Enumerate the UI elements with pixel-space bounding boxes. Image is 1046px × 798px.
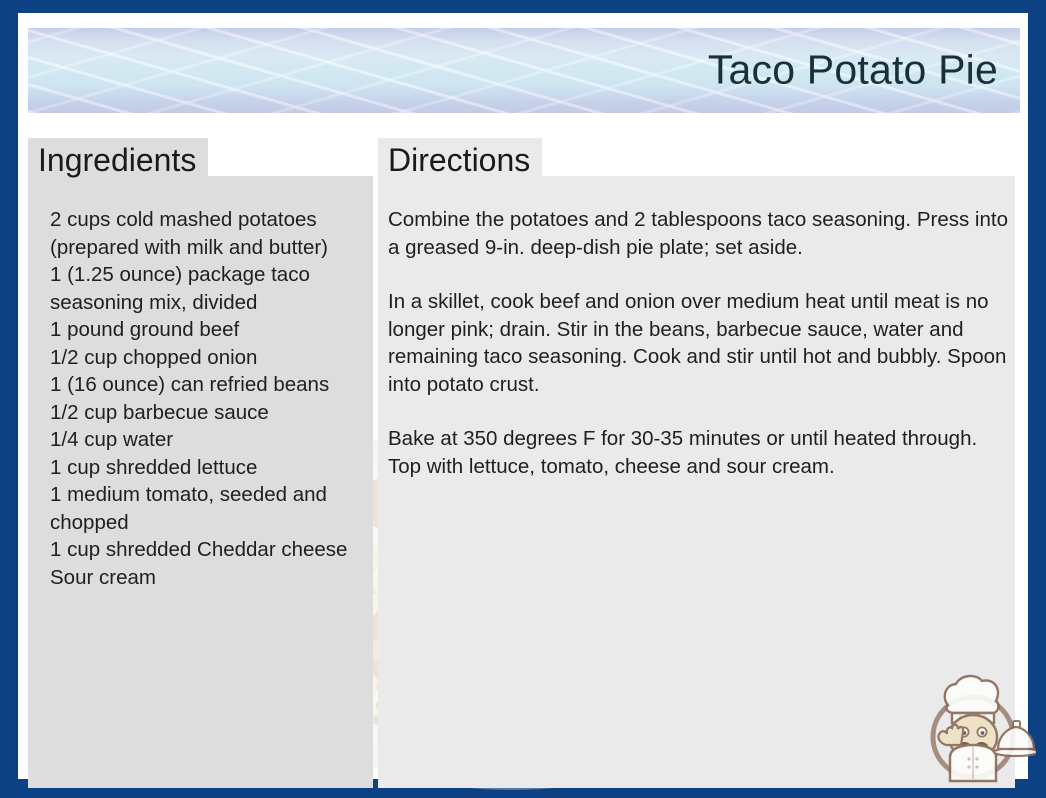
recipe-card-page: Taco Potato Pie 2 cups cold mashed potat… — [18, 13, 1028, 779]
ingredients-heading: Ingredients — [28, 138, 208, 182]
direction-step: In a skillet, cook beef and onion over m… — [388, 288, 1008, 398]
direction-step: Bake at 350 degrees F for 30-35 minutes … — [388, 425, 1008, 480]
directions-panel: Combine the potatoes and 2 tablespoons t… — [378, 176, 1015, 788]
directions-body: Combine the potatoes and 2 tablespoons t… — [388, 206, 1008, 480]
directions-heading: Directions — [378, 138, 542, 182]
title-banner: Taco Potato Pie — [28, 28, 1020, 113]
ingredients-list: 2 cups cold mashed potatoes (prepared wi… — [50, 206, 372, 591]
ingredients-panel: 2 cups cold mashed potatoes (prepared wi… — [28, 176, 373, 788]
page-title: Taco Potato Pie — [708, 46, 998, 93]
recipe-card-frame: Taco Potato Pie 2 cups cold mashed potat… — [0, 0, 1046, 792]
direction-step: Combine the potatoes and 2 tablespoons t… — [388, 206, 1008, 261]
